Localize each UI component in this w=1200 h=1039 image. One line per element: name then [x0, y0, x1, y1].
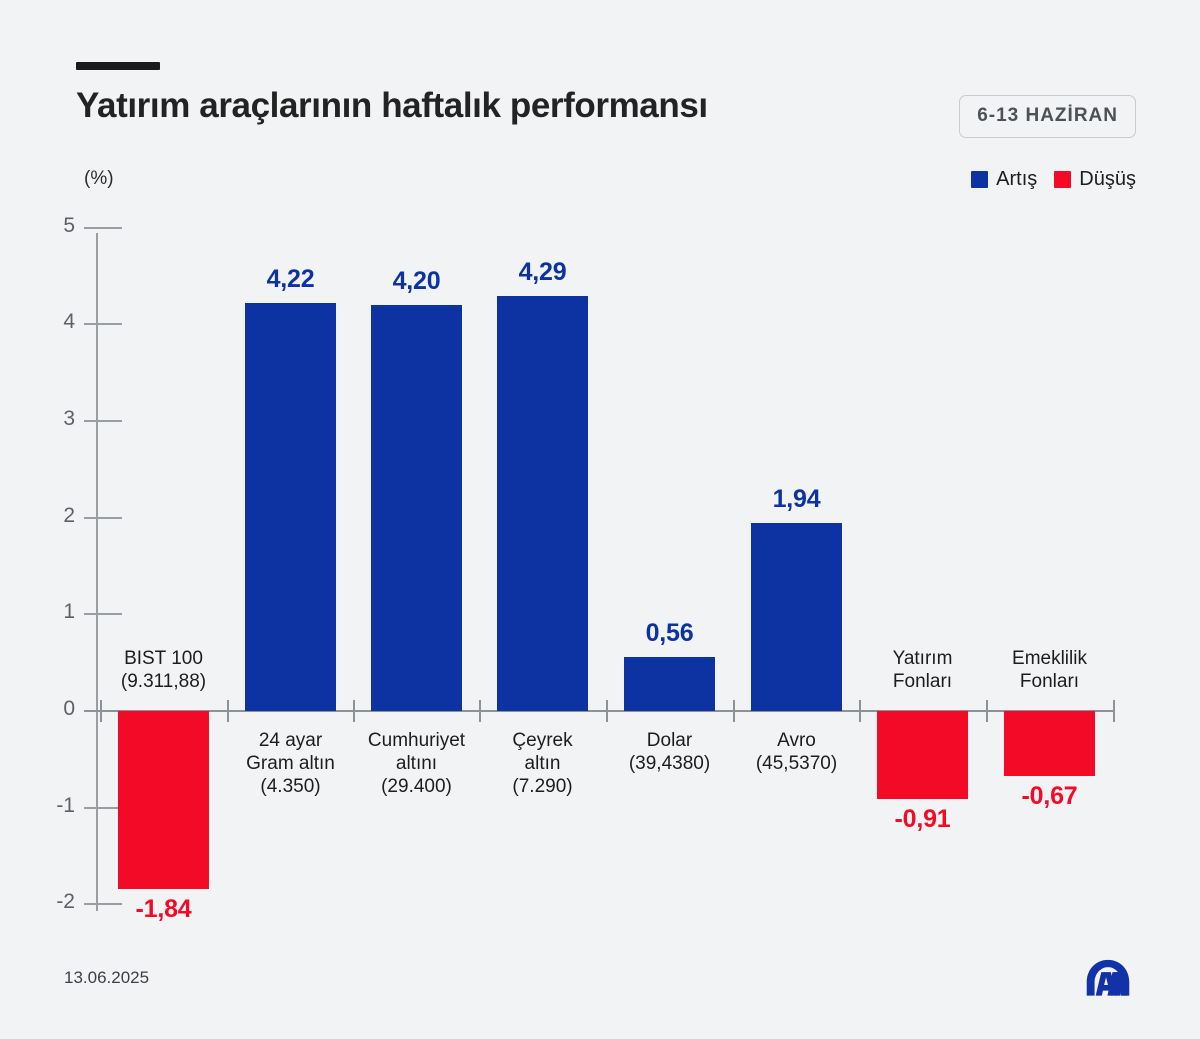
category-label-line: Fonları [849, 670, 996, 693]
y-axis-tick-label: 4 [41, 310, 75, 334]
bar-value-label: -0,67 [1004, 782, 1095, 811]
infographic-canvas: Yatırım araçlarının haftalık performansı… [0, 0, 1200, 1039]
y-axis-tick [84, 807, 122, 809]
y-axis-tick [84, 613, 122, 615]
bar-chart-plot: 543210-1-2-1,84BIST 100(9.311,88)4,2224 … [0, 0, 1200, 1039]
aa-logo-icon [1080, 952, 1136, 1008]
category-label-line: Emeklilik [976, 647, 1123, 670]
bar-1[interactable] [118, 711, 209, 889]
y-axis-tick [84, 903, 122, 905]
bar-5[interactable] [624, 657, 715, 711]
y-axis-tick-label: 2 [41, 504, 75, 528]
y-axis-tick-label: 5 [41, 214, 75, 238]
category-label-line: Dolar [596, 729, 743, 752]
y-axis-tick-label: 3 [41, 407, 75, 431]
y-axis-tick-label: -2 [41, 890, 75, 914]
x-axis-category-label: 24 ayarGram altın(4.350) [217, 729, 364, 799]
category-label-line: (45,5370) [723, 752, 870, 775]
x-axis-category-label: EmeklilikFonları [976, 647, 1123, 693]
bar-6[interactable] [751, 523, 842, 711]
x-axis-tick [227, 700, 229, 722]
category-label-line: 24 ayar [217, 729, 364, 752]
x-axis-tick [353, 700, 355, 722]
x-axis-category-label: Avro(45,5370) [723, 729, 870, 775]
y-axis-tick [84, 517, 122, 519]
bar-value-label: 4,29 [497, 258, 588, 287]
category-label-line: Yatırım [849, 647, 996, 670]
bar-value-label: -0,91 [877, 805, 968, 834]
category-label-line: (39,4380) [596, 752, 743, 775]
bar-value-label: 1,94 [751, 485, 842, 514]
x-axis-category-label: BIST 100(9.311,88) [90, 647, 237, 693]
x-axis-category-label: Dolar(39,4380) [596, 729, 743, 775]
category-label-line: (4.350) [217, 775, 364, 798]
x-axis-tick [986, 700, 988, 722]
y-axis-tick-label: -1 [41, 794, 75, 818]
category-label-line: Çeyrek [469, 729, 616, 752]
y-axis-tick-label: 0 [41, 697, 75, 721]
x-axis-tick [859, 700, 861, 722]
bar-3[interactable] [371, 305, 462, 711]
bar-value-label: 4,20 [371, 267, 462, 296]
y-axis-tick [84, 420, 122, 422]
category-label-line: (9.311,88) [90, 670, 237, 693]
y-axis-line [96, 233, 98, 911]
x-axis-category-label: Cumhuriyetaltını(29.400) [343, 729, 490, 799]
y-axis-tick-label: 1 [41, 600, 75, 624]
category-label-line: altını [343, 752, 490, 775]
bar-7[interactable] [877, 711, 968, 799]
x-axis-category-label: Çeyrekaltın(7.290) [469, 729, 616, 799]
bar-value-label: 0,56 [624, 619, 715, 648]
publication-date: 13.06.2025 [64, 968, 149, 988]
category-label-line: Gram altın [217, 752, 364, 775]
x-axis-tick [479, 700, 481, 722]
bar-value-label: -1,84 [118, 895, 209, 924]
x-axis-category-label: YatırımFonları [849, 647, 996, 693]
category-label-line: (29.400) [343, 775, 490, 798]
category-label-line: Cumhuriyet [343, 729, 490, 752]
category-label-line: Avro [723, 729, 870, 752]
category-label-line: altın [469, 752, 616, 775]
category-label-line: Fonları [976, 670, 1123, 693]
category-label-line: BIST 100 [90, 647, 237, 670]
bar-8[interactable] [1004, 711, 1095, 776]
bar-2[interactable] [245, 303, 336, 711]
x-axis-tick [100, 700, 102, 722]
category-label-line: (7.290) [469, 775, 616, 798]
bar-value-label: 4,22 [245, 265, 336, 294]
x-axis-tick [733, 700, 735, 722]
y-axis-tick [84, 227, 122, 229]
x-axis-tick [606, 700, 608, 722]
bar-4[interactable] [497, 296, 588, 711]
x-axis-tick [1113, 700, 1115, 722]
y-axis-tick [84, 323, 122, 325]
